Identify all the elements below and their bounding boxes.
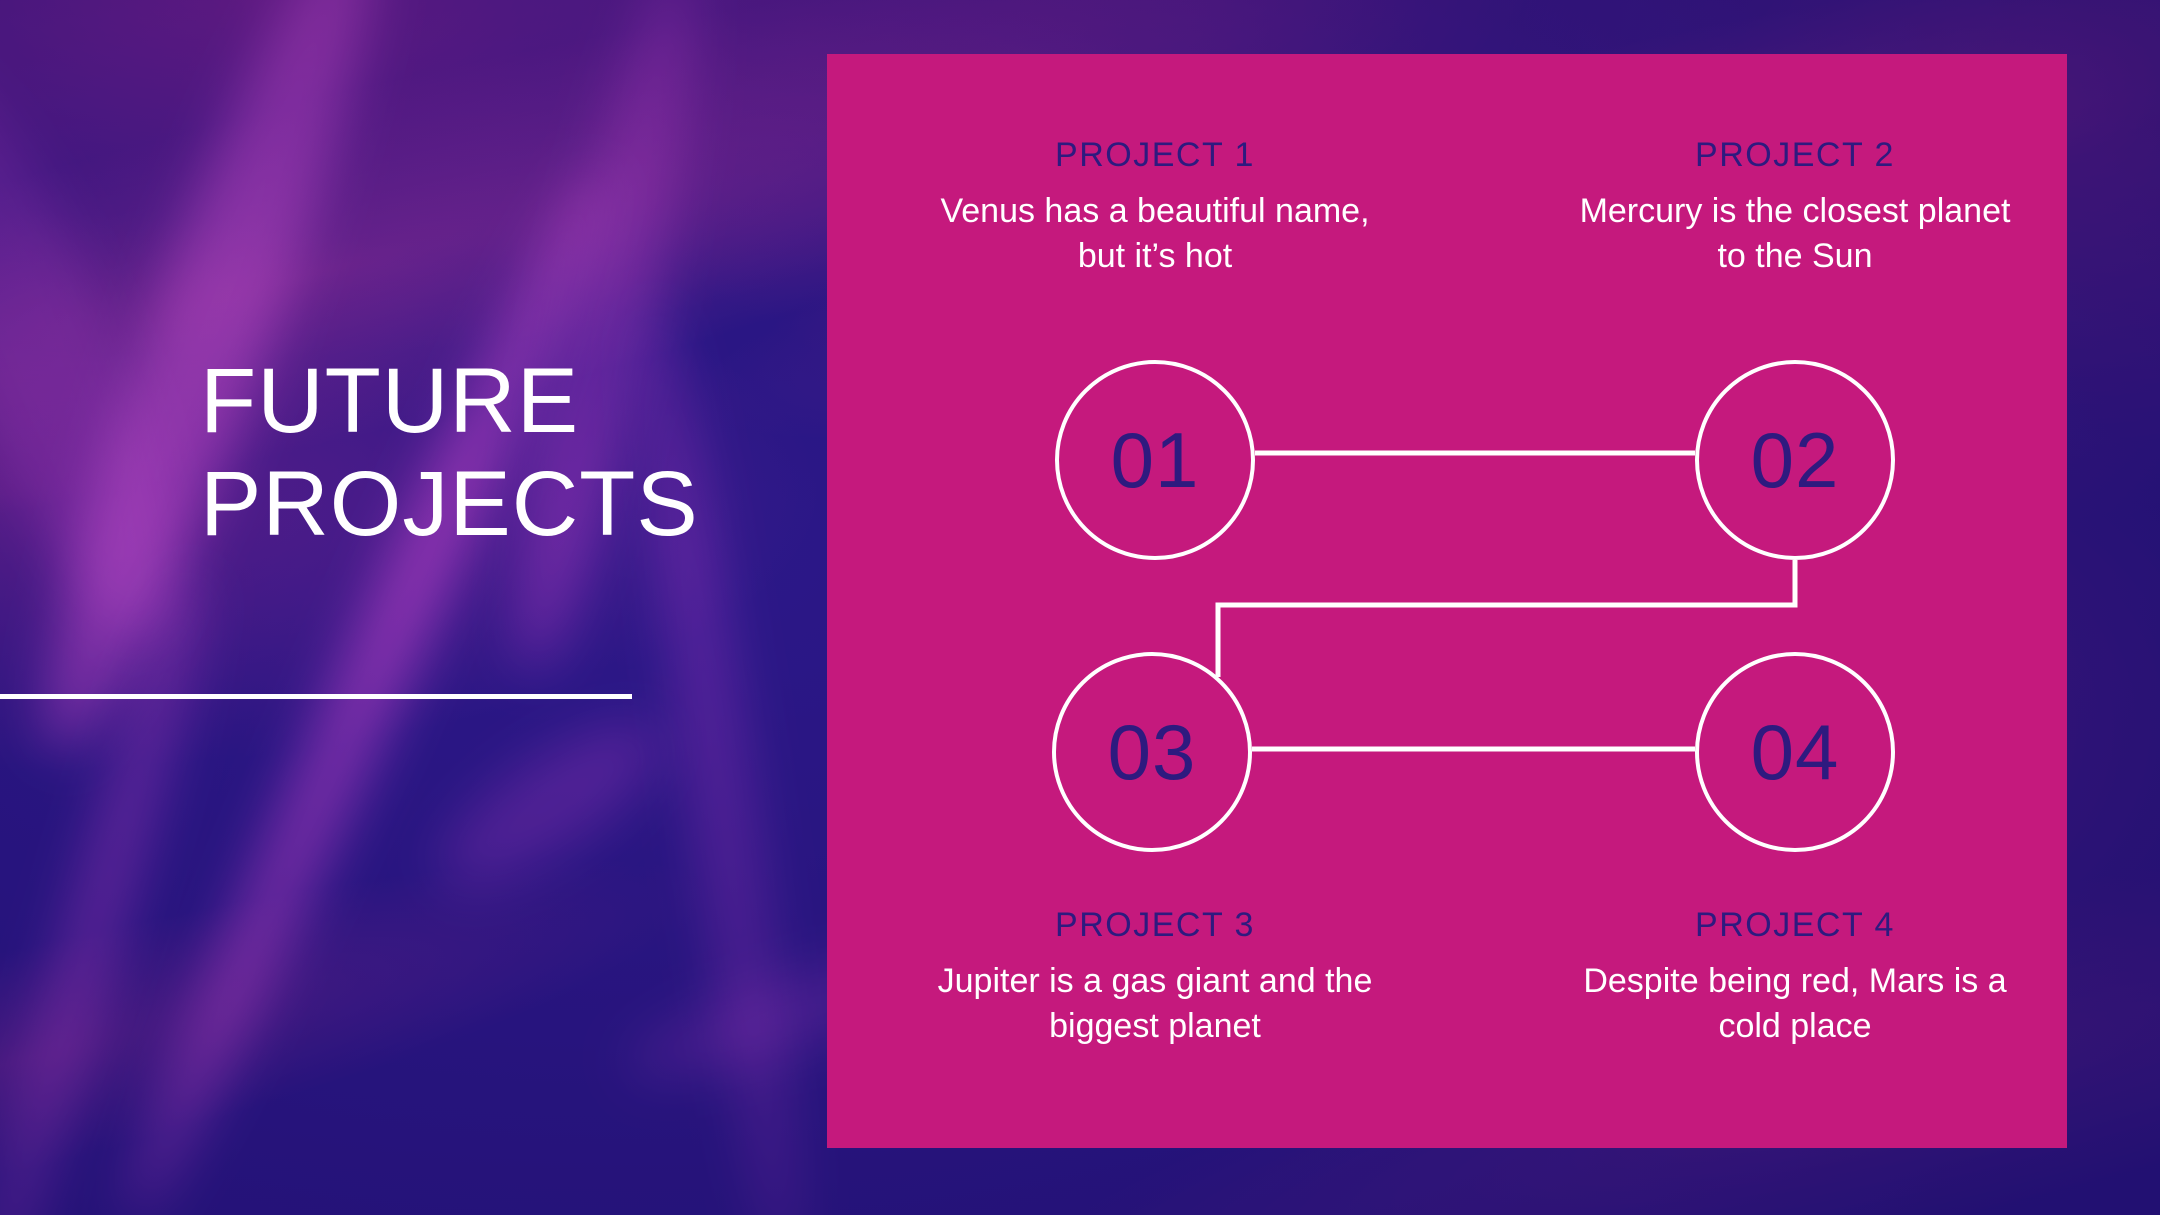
node-caption-01: PROJECT 1 Venus has a beautiful name, bu… [935, 136, 1375, 279]
node-circle-02[interactable]: 02 [1695, 360, 1895, 560]
slide-canvas: FUTURE PROJECTS 01 02 03 [0, 0, 2160, 1215]
node-description-02: Mercury is the closest planet to the Sun [1575, 189, 2015, 279]
projects-panel: 01 02 03 04 PROJECT 1 Venus has a beauti… [827, 54, 2067, 1148]
page-title-line-1: FUTURE [0, 350, 760, 453]
node-caption-02: PROJECT 2 Mercury is the closest planet … [1575, 136, 2015, 279]
node-label-01: PROJECT 1 [935, 136, 1375, 175]
node-label-03: PROJECT 3 [935, 906, 1375, 945]
node-circle-03[interactable]: 03 [1052, 652, 1252, 852]
node-number-04: 04 [1751, 713, 1840, 791]
node-label-02: PROJECT 2 [1575, 136, 2015, 175]
connector-02-to-03 [1218, 560, 1795, 677]
title-underline-rule [0, 694, 632, 699]
node-label-04: PROJECT 4 [1575, 906, 2015, 945]
node-circle-01[interactable]: 01 [1055, 360, 1255, 560]
projects-diagram: 01 02 03 04 PROJECT 1 Venus has a beauti… [827, 54, 2067, 1148]
node-description-04: Despite being red, Mars is a cold place [1575, 959, 2015, 1049]
node-description-03: Jupiter is a gas giant and the biggest p… [935, 959, 1375, 1049]
page-title-line-2: PROJECTS [0, 453, 760, 556]
node-caption-04: PROJECT 4 Despite being red, Mars is a c… [1575, 906, 2015, 1049]
node-caption-03: PROJECT 3 Jupiter is a gas giant and the… [935, 906, 1375, 1049]
node-description-01: Venus has a beautiful name, but it’s hot [935, 189, 1375, 279]
node-number-03: 03 [1108, 713, 1197, 791]
node-number-01: 01 [1111, 421, 1200, 499]
node-number-02: 02 [1751, 421, 1840, 499]
page-title: FUTURE PROJECTS [0, 350, 760, 556]
node-circle-04[interactable]: 04 [1695, 652, 1895, 852]
